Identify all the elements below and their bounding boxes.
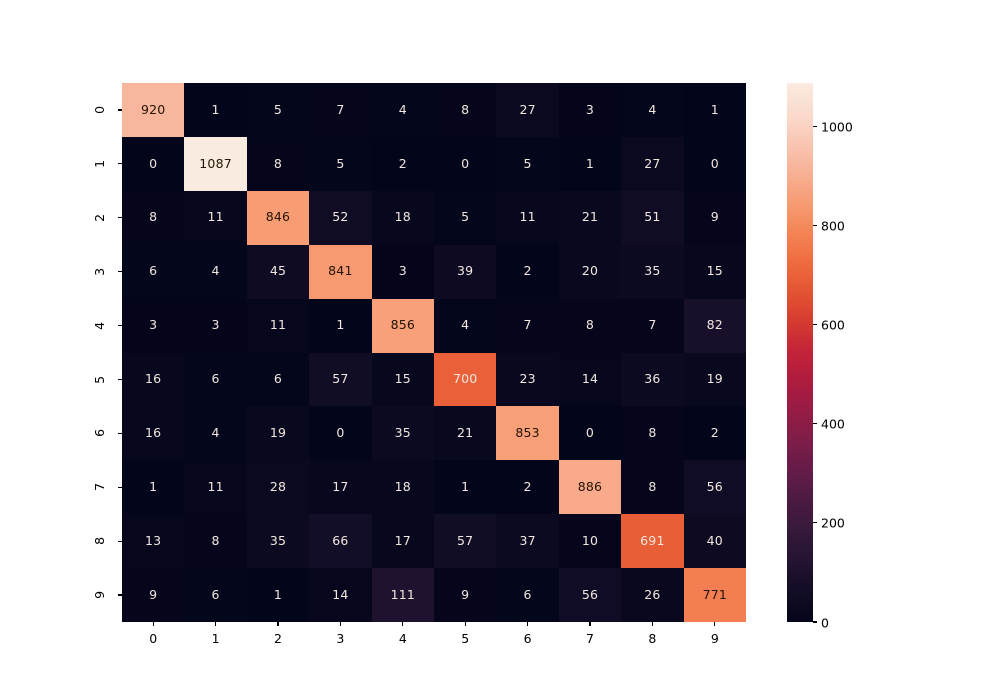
x-tick-label: 3 xyxy=(309,631,371,646)
heatmap-cell: 0 xyxy=(559,406,621,460)
colorbar-tick-label: 1000 xyxy=(821,119,853,134)
tick-mark xyxy=(402,622,403,626)
colorbar-gradient xyxy=(787,83,813,622)
heatmap-cell: 36 xyxy=(621,353,683,407)
heatmap-cell: 8 xyxy=(122,191,184,245)
heatmap-plot-area: 9201574827341010878520512708118465218511… xyxy=(122,83,746,622)
heatmap-cell: 1 xyxy=(309,299,371,353)
y-tick-label: 6 xyxy=(73,421,127,445)
y-tick-label: 4 xyxy=(73,314,127,338)
heatmap-cell: 1087 xyxy=(184,137,246,191)
heatmap-cell: 8 xyxy=(621,406,683,460)
heatmap-cell: 111 xyxy=(372,568,434,622)
y-tick-label: 5 xyxy=(73,367,127,391)
x-tick-label: 0 xyxy=(122,631,184,646)
heatmap-cell: 3 xyxy=(122,299,184,353)
heatmap-cell: 8 xyxy=(559,299,621,353)
heatmap-cell: 2 xyxy=(684,406,746,460)
heatmap-cell: 40 xyxy=(684,514,746,568)
heatmap-cell: 18 xyxy=(372,460,434,514)
heatmap-cell: 66 xyxy=(309,514,371,568)
heatmap-grid: 9201574827341010878520512708118465218511… xyxy=(122,83,746,622)
x-tick-label: 2 xyxy=(247,631,309,646)
tick-mark xyxy=(277,622,278,626)
colorbar-tick-label: 0 xyxy=(821,615,829,630)
heatmap-cell: 15 xyxy=(684,245,746,299)
heatmap-cell: 14 xyxy=(559,353,621,407)
y-tick-label: 9 xyxy=(73,583,127,607)
heatmap-cell: 28 xyxy=(247,460,309,514)
heatmap-cell: 7 xyxy=(621,299,683,353)
heatmap-cell: 846 xyxy=(247,191,309,245)
heatmap-cell: 35 xyxy=(247,514,309,568)
heatmap-cell: 57 xyxy=(434,514,496,568)
heatmap-cell: 17 xyxy=(372,514,434,568)
heatmap-cell: 886 xyxy=(559,460,621,514)
heatmap-cell: 13 xyxy=(122,514,184,568)
x-tick-label: 6 xyxy=(496,631,558,646)
heatmap-cell: 6 xyxy=(496,568,558,622)
heatmap-cell: 3 xyxy=(372,245,434,299)
heatmap-cell: 52 xyxy=(309,191,371,245)
colorbar-tick-label: 200 xyxy=(821,516,845,531)
tick-mark xyxy=(153,622,154,626)
tick-mark xyxy=(813,522,817,523)
heatmap-cell: 1 xyxy=(247,568,309,622)
heatmap-cell: 3 xyxy=(559,83,621,137)
heatmap-cell: 853 xyxy=(496,406,558,460)
heatmap-cell: 5 xyxy=(496,137,558,191)
heatmap-cell: 51 xyxy=(621,191,683,245)
y-tick-label: 1 xyxy=(73,152,127,176)
heatmap-cell: 11 xyxy=(247,299,309,353)
heatmap-cell: 841 xyxy=(309,245,371,299)
heatmap-cell: 2 xyxy=(496,460,558,514)
heatmap-cell: 26 xyxy=(621,568,683,622)
heatmap-cell: 14 xyxy=(309,568,371,622)
heatmap-cell: 5 xyxy=(309,137,371,191)
heatmap-cell: 8 xyxy=(184,514,246,568)
tick-mark xyxy=(813,423,817,424)
x-tick-label: 1 xyxy=(184,631,246,646)
heatmap-cell: 9 xyxy=(434,568,496,622)
heatmap-cell: 9 xyxy=(684,191,746,245)
tick-mark xyxy=(465,622,466,626)
heatmap-cell: 2 xyxy=(496,245,558,299)
heatmap-cell: 57 xyxy=(309,353,371,407)
heatmap-cell: 20 xyxy=(559,245,621,299)
x-tick-label: 4 xyxy=(372,631,434,646)
heatmap-cell: 1 xyxy=(184,83,246,137)
x-tick-label: 7 xyxy=(559,631,621,646)
x-tick-label: 5 xyxy=(434,631,496,646)
heatmap-cell: 7 xyxy=(496,299,558,353)
heatmap-cell: 11 xyxy=(496,191,558,245)
heatmap-cell: 700 xyxy=(434,353,496,407)
heatmap-cell: 856 xyxy=(372,299,434,353)
tick-mark xyxy=(813,225,817,226)
x-tick-label: 9 xyxy=(684,631,746,646)
heatmap-cell: 7 xyxy=(309,83,371,137)
tick-mark xyxy=(527,622,528,626)
heatmap-cell: 691 xyxy=(621,514,683,568)
tick-mark xyxy=(813,126,817,127)
heatmap-cell: 0 xyxy=(684,137,746,191)
tick-mark xyxy=(589,622,590,626)
heatmap-cell: 8 xyxy=(434,83,496,137)
heatmap-cell: 4 xyxy=(372,83,434,137)
tick-mark xyxy=(813,324,817,325)
heatmap-cell: 56 xyxy=(684,460,746,514)
y-tick-label: 2 xyxy=(73,206,127,230)
heatmap-figure: 9201574827341010878520512708118465218511… xyxy=(0,0,1000,700)
y-tick-label: 8 xyxy=(73,529,127,553)
y-tick-label: 0 xyxy=(73,98,127,122)
tick-mark xyxy=(813,621,817,622)
heatmap-cell: 16 xyxy=(122,353,184,407)
heatmap-cell: 4 xyxy=(621,83,683,137)
heatmap-cell: 27 xyxy=(496,83,558,137)
heatmap-cell: 6 xyxy=(184,568,246,622)
heatmap-cell: 39 xyxy=(434,245,496,299)
heatmap-cell: 35 xyxy=(372,406,434,460)
heatmap-cell: 21 xyxy=(434,406,496,460)
heatmap-cell: 4 xyxy=(184,245,246,299)
tick-mark xyxy=(215,622,216,626)
heatmap-cell: 15 xyxy=(372,353,434,407)
heatmap-cell: 45 xyxy=(247,245,309,299)
heatmap-cell: 0 xyxy=(122,137,184,191)
heatmap-cell: 16 xyxy=(122,406,184,460)
heatmap-cell: 0 xyxy=(309,406,371,460)
heatmap-cell: 2 xyxy=(372,137,434,191)
heatmap-cell: 4 xyxy=(184,406,246,460)
colorbar-tick-label: 400 xyxy=(821,417,845,432)
heatmap-cell: 1 xyxy=(684,83,746,137)
heatmap-cell: 1 xyxy=(434,460,496,514)
tick-mark xyxy=(714,622,715,626)
heatmap-cell: 8 xyxy=(247,137,309,191)
heatmap-cell: 8 xyxy=(621,460,683,514)
y-tick-label: 7 xyxy=(73,475,127,499)
heatmap-cell: 18 xyxy=(372,191,434,245)
heatmap-cell: 1 xyxy=(559,137,621,191)
heatmap-cell: 17 xyxy=(309,460,371,514)
heatmap-cell: 19 xyxy=(684,353,746,407)
heatmap-cell: 920 xyxy=(122,83,184,137)
heatmap-cell: 11 xyxy=(184,191,246,245)
heatmap-cell: 5 xyxy=(434,191,496,245)
colorbar-tick-label: 600 xyxy=(821,317,845,332)
heatmap-cell: 3 xyxy=(184,299,246,353)
heatmap-cell: 6 xyxy=(247,353,309,407)
heatmap-cell: 6 xyxy=(184,353,246,407)
heatmap-cell: 27 xyxy=(621,137,683,191)
tick-mark xyxy=(340,622,341,626)
heatmap-cell: 9 xyxy=(122,568,184,622)
heatmap-cell: 771 xyxy=(684,568,746,622)
heatmap-cell: 23 xyxy=(496,353,558,407)
heatmap-cell: 10 xyxy=(559,514,621,568)
heatmap-cell: 35 xyxy=(621,245,683,299)
heatmap-cell: 37 xyxy=(496,514,558,568)
heatmap-cell: 21 xyxy=(559,191,621,245)
colorbar-tick-label: 800 xyxy=(821,218,845,233)
heatmap-cell: 6 xyxy=(122,245,184,299)
heatmap-cell: 0 xyxy=(434,137,496,191)
colorbar: 02004006008001000 xyxy=(787,83,813,622)
heatmap-cell: 1 xyxy=(122,460,184,514)
x-tick-label: 8 xyxy=(621,631,683,646)
heatmap-cell: 5 xyxy=(247,83,309,137)
heatmap-cell: 11 xyxy=(184,460,246,514)
tick-mark xyxy=(652,622,653,626)
heatmap-cell: 19 xyxy=(247,406,309,460)
heatmap-cell: 4 xyxy=(434,299,496,353)
heatmap-cell: 82 xyxy=(684,299,746,353)
y-tick-label: 3 xyxy=(73,260,127,284)
heatmap-cell: 56 xyxy=(559,568,621,622)
